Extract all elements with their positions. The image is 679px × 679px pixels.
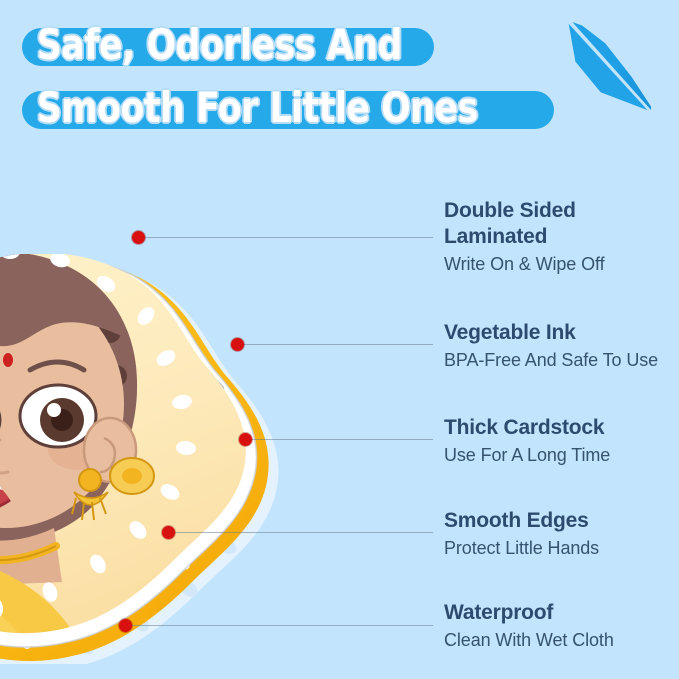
callout-dot-1	[132, 231, 145, 244]
feature-item-3: Thick CardstockUse For A Long Time	[444, 415, 676, 467]
callout-line-4	[175, 532, 433, 533]
feature-item-2: Vegetable InkBPA-Free And Safe To Use	[444, 320, 676, 372]
feature-title: Vegetable Ink	[444, 320, 676, 346]
bindi	[3, 353, 13, 367]
infographic-canvas: Safe, Odorless And Smooth For Little One…	[0, 0, 679, 679]
callout-line-2	[244, 344, 433, 345]
feature-item-1: Double SidedLaminatedWrite On & Wipe Off	[444, 198, 676, 276]
feature-title: Thick Cardstock	[444, 415, 676, 441]
feature-subtitle: Use For A Long Time	[444, 443, 676, 467]
feature-item-4: Smooth EdgesProtect Little Hands	[444, 508, 676, 560]
headline-line-2: Smooth For Little Ones	[22, 81, 534, 135]
feature-subtitle: Protect Little Hands	[444, 536, 676, 560]
callout-dot-3	[239, 433, 252, 446]
feature-title: Double Sided	[444, 198, 676, 224]
headline-line-1: Safe, Odorless And	[22, 18, 451, 72]
card-cream-layer	[0, 254, 246, 664]
callout-dot-5	[119, 619, 132, 632]
product-card-svg	[0, 254, 334, 664]
headline-text-1: Safe, Odorless And	[22, 18, 417, 72]
feature-subtitle: Clean With Wet Cloth	[444, 628, 676, 652]
feature-title: Smooth Edges	[444, 508, 676, 534]
page-title: Safe, Odorless And Smooth For Little One…	[22, 18, 534, 144]
headline-text-2: Smooth For Little Ones	[22, 81, 493, 135]
callout-dot-4	[162, 526, 175, 539]
feature-subtitle: Write On & Wipe Off	[444, 252, 676, 276]
product-illustration	[0, 254, 334, 664]
ornament-gold	[110, 458, 154, 494]
feature-subtitle: BPA-Free And Safe To Use	[444, 348, 676, 372]
callout-line-3	[252, 439, 433, 440]
callout-line-1	[145, 237, 433, 238]
feature-item-5: WaterproofClean With Wet Cloth	[444, 600, 676, 652]
callout-dot-2	[231, 338, 244, 351]
callout-line-5	[132, 625, 433, 626]
feature-title: Waterproof	[444, 600, 676, 626]
feature-title-line2: Laminated	[444, 224, 676, 250]
